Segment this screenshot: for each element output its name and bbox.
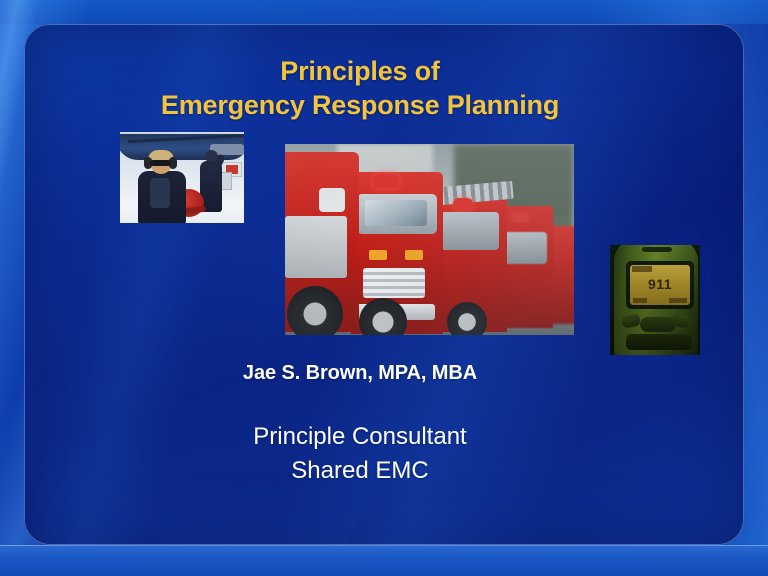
presentation-slide: Principles of Emergency Response Plannin…	[0, 0, 768, 576]
fire-trucks-photo-haze	[285, 144, 574, 335]
responder-foreground-figure	[136, 152, 188, 223]
emergency-responders-helicopter-photo	[120, 132, 244, 223]
presenter-role-line-2: Shared EMC	[60, 454, 660, 488]
presenter-role-line-1: Principle Consultant	[60, 420, 660, 454]
fire-trucks-row-photo	[285, 144, 574, 335]
responder-sunglasses	[150, 160, 171, 166]
responder-foreground-vest	[150, 178, 170, 208]
slide-title-line-2: Emergency Response Planning	[60, 88, 660, 122]
background-top-band	[0, 0, 768, 24]
background-bottom-band	[0, 546, 768, 576]
cell-phone-911-photo: 911	[610, 245, 700, 355]
cell-phone-photo-shadow	[610, 245, 700, 355]
slide-title: Principles of Emergency Response Plannin…	[60, 54, 660, 122]
presenter-name: Jae S. Brown, MPA, MBA	[60, 362, 660, 385]
slide-title-line-1: Principles of	[60, 54, 660, 88]
presenter-role: Principle Consultant Shared EMC	[60, 420, 660, 488]
